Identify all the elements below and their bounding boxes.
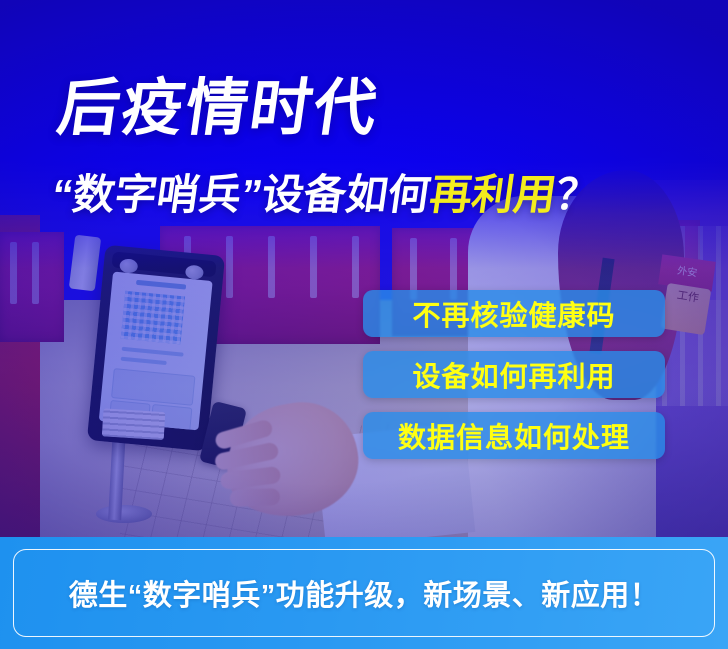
- pill-item-2[interactable]: 设备如何再利用: [363, 351, 665, 398]
- kiosk-card-reader: [102, 408, 166, 440]
- pill-label: 数据信息如何处理: [398, 416, 630, 456]
- pill-label: 设备如何再利用: [412, 355, 615, 395]
- pill-label: 不再核验健康码: [412, 294, 615, 334]
- poster-root: 外安 工作: [0, 0, 728, 649]
- banner-text: 德生“数字哨兵”功能升级，新场景、新应用！: [69, 572, 660, 614]
- qr-code-icon: [121, 291, 185, 345]
- barrier-panel: [0, 232, 64, 342]
- pill-item-1[interactable]: 不再核验健康码: [363, 290, 665, 337]
- kiosk-screen: [99, 272, 213, 431]
- kiosk-arm: [69, 235, 101, 292]
- bottom-banner: 德生“数字哨兵”功能升级，新场景、新应用！: [0, 537, 728, 649]
- banner-border-box: 德生“数字哨兵”功能升级，新场景、新应用！: [13, 549, 715, 637]
- digital-sentinel-kiosk: [87, 245, 225, 452]
- kiosk-base: [96, 505, 152, 523]
- highlight-pill-list: 不再核验健康码 设备如何再利用 数据信息如何处理: [363, 290, 665, 459]
- person-badge: 工作: [661, 283, 712, 335]
- pill-item-3[interactable]: 数据信息如何处理: [363, 412, 665, 459]
